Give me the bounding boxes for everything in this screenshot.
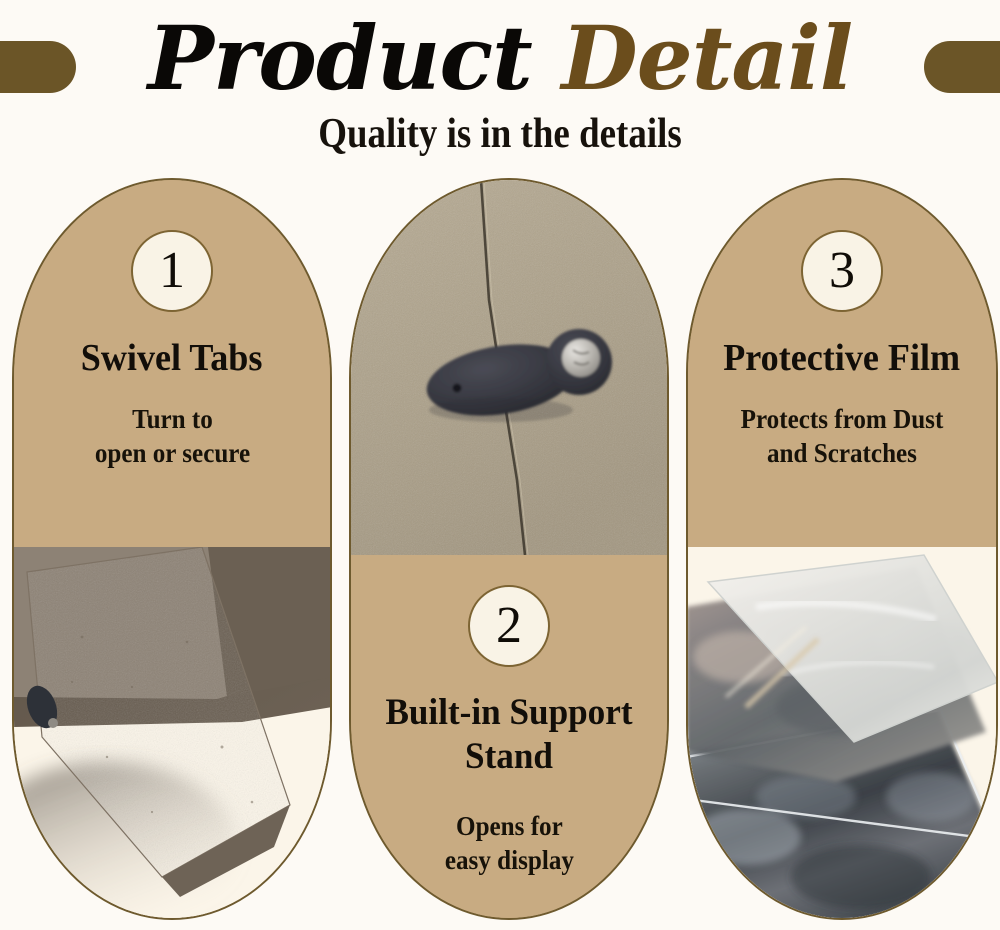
feature-card-2-title: Built-in Support Stand [359, 691, 659, 779]
feature-card-3: 3 Protective Film Protects from Dust and… [686, 178, 998, 920]
feature-card-2-photo [351, 180, 667, 555]
page-title: Product Detail [0, 8, 1000, 108]
feature-card-1-photo [14, 547, 330, 920]
feature-card-3-subtitle: Protects from Dust and Scratches [728, 402, 957, 470]
feature-card-2: 2 Built-in Support Stand Opens for easy … [349, 178, 669, 920]
feature-card-2-photo-svg [351, 180, 667, 555]
feature-card-3-number-badge: 3 [801, 230, 883, 312]
feature-card-3-subtitle-line2: and Scratches [741, 436, 944, 470]
feature-card-3-text-panel: 3 Protective Film Protects from Dust and… [688, 180, 996, 547]
feature-card-3-photo-svg [688, 547, 996, 920]
cards-container: 1 Swivel Tabs Turn to open or secure [0, 178, 1000, 923]
feature-card-2-subtitle-line2: easy display [444, 843, 573, 877]
feature-card-1-subtitle-line2: open or secure [94, 436, 249, 470]
page-subtitle: Quality is in the details [60, 110, 940, 158]
feature-card-3-photo [688, 547, 996, 920]
header: Product Detail Quality is in the details [0, 0, 1000, 170]
feature-card-2-number-badge: 2 [468, 585, 550, 667]
feature-card-1-title: Swivel Tabs [74, 336, 271, 380]
feature-card-1-photo-svg [14, 547, 330, 920]
feature-card-1: 1 Swivel Tabs Turn to open or secure [12, 178, 332, 920]
feature-card-1-text-panel: 1 Swivel Tabs Turn to open or secure [14, 180, 330, 547]
feature-card-1-number-badge: 1 [131, 230, 213, 312]
feature-card-2-text-panel: 2 Built-in Support Stand Opens for easy … [351, 555, 667, 920]
feature-card-1-subtitle: Turn to open or secure [81, 402, 262, 470]
feature-card-2-subtitle: Opens for easy display [431, 809, 586, 877]
feature-card-1-subtitle-line1: Turn to [94, 402, 249, 436]
feature-card-3-title: Protective Film [716, 336, 968, 380]
page-title-part1: Product [148, 6, 532, 110]
product-detail-infographic: Product Detail Quality is in the details… [0, 0, 1000, 930]
page-title-part2: Detail [561, 6, 852, 110]
feature-card-2-subtitle-line1: Opens for [444, 809, 573, 843]
feature-card-3-subtitle-line1: Protects from Dust [741, 402, 944, 436]
